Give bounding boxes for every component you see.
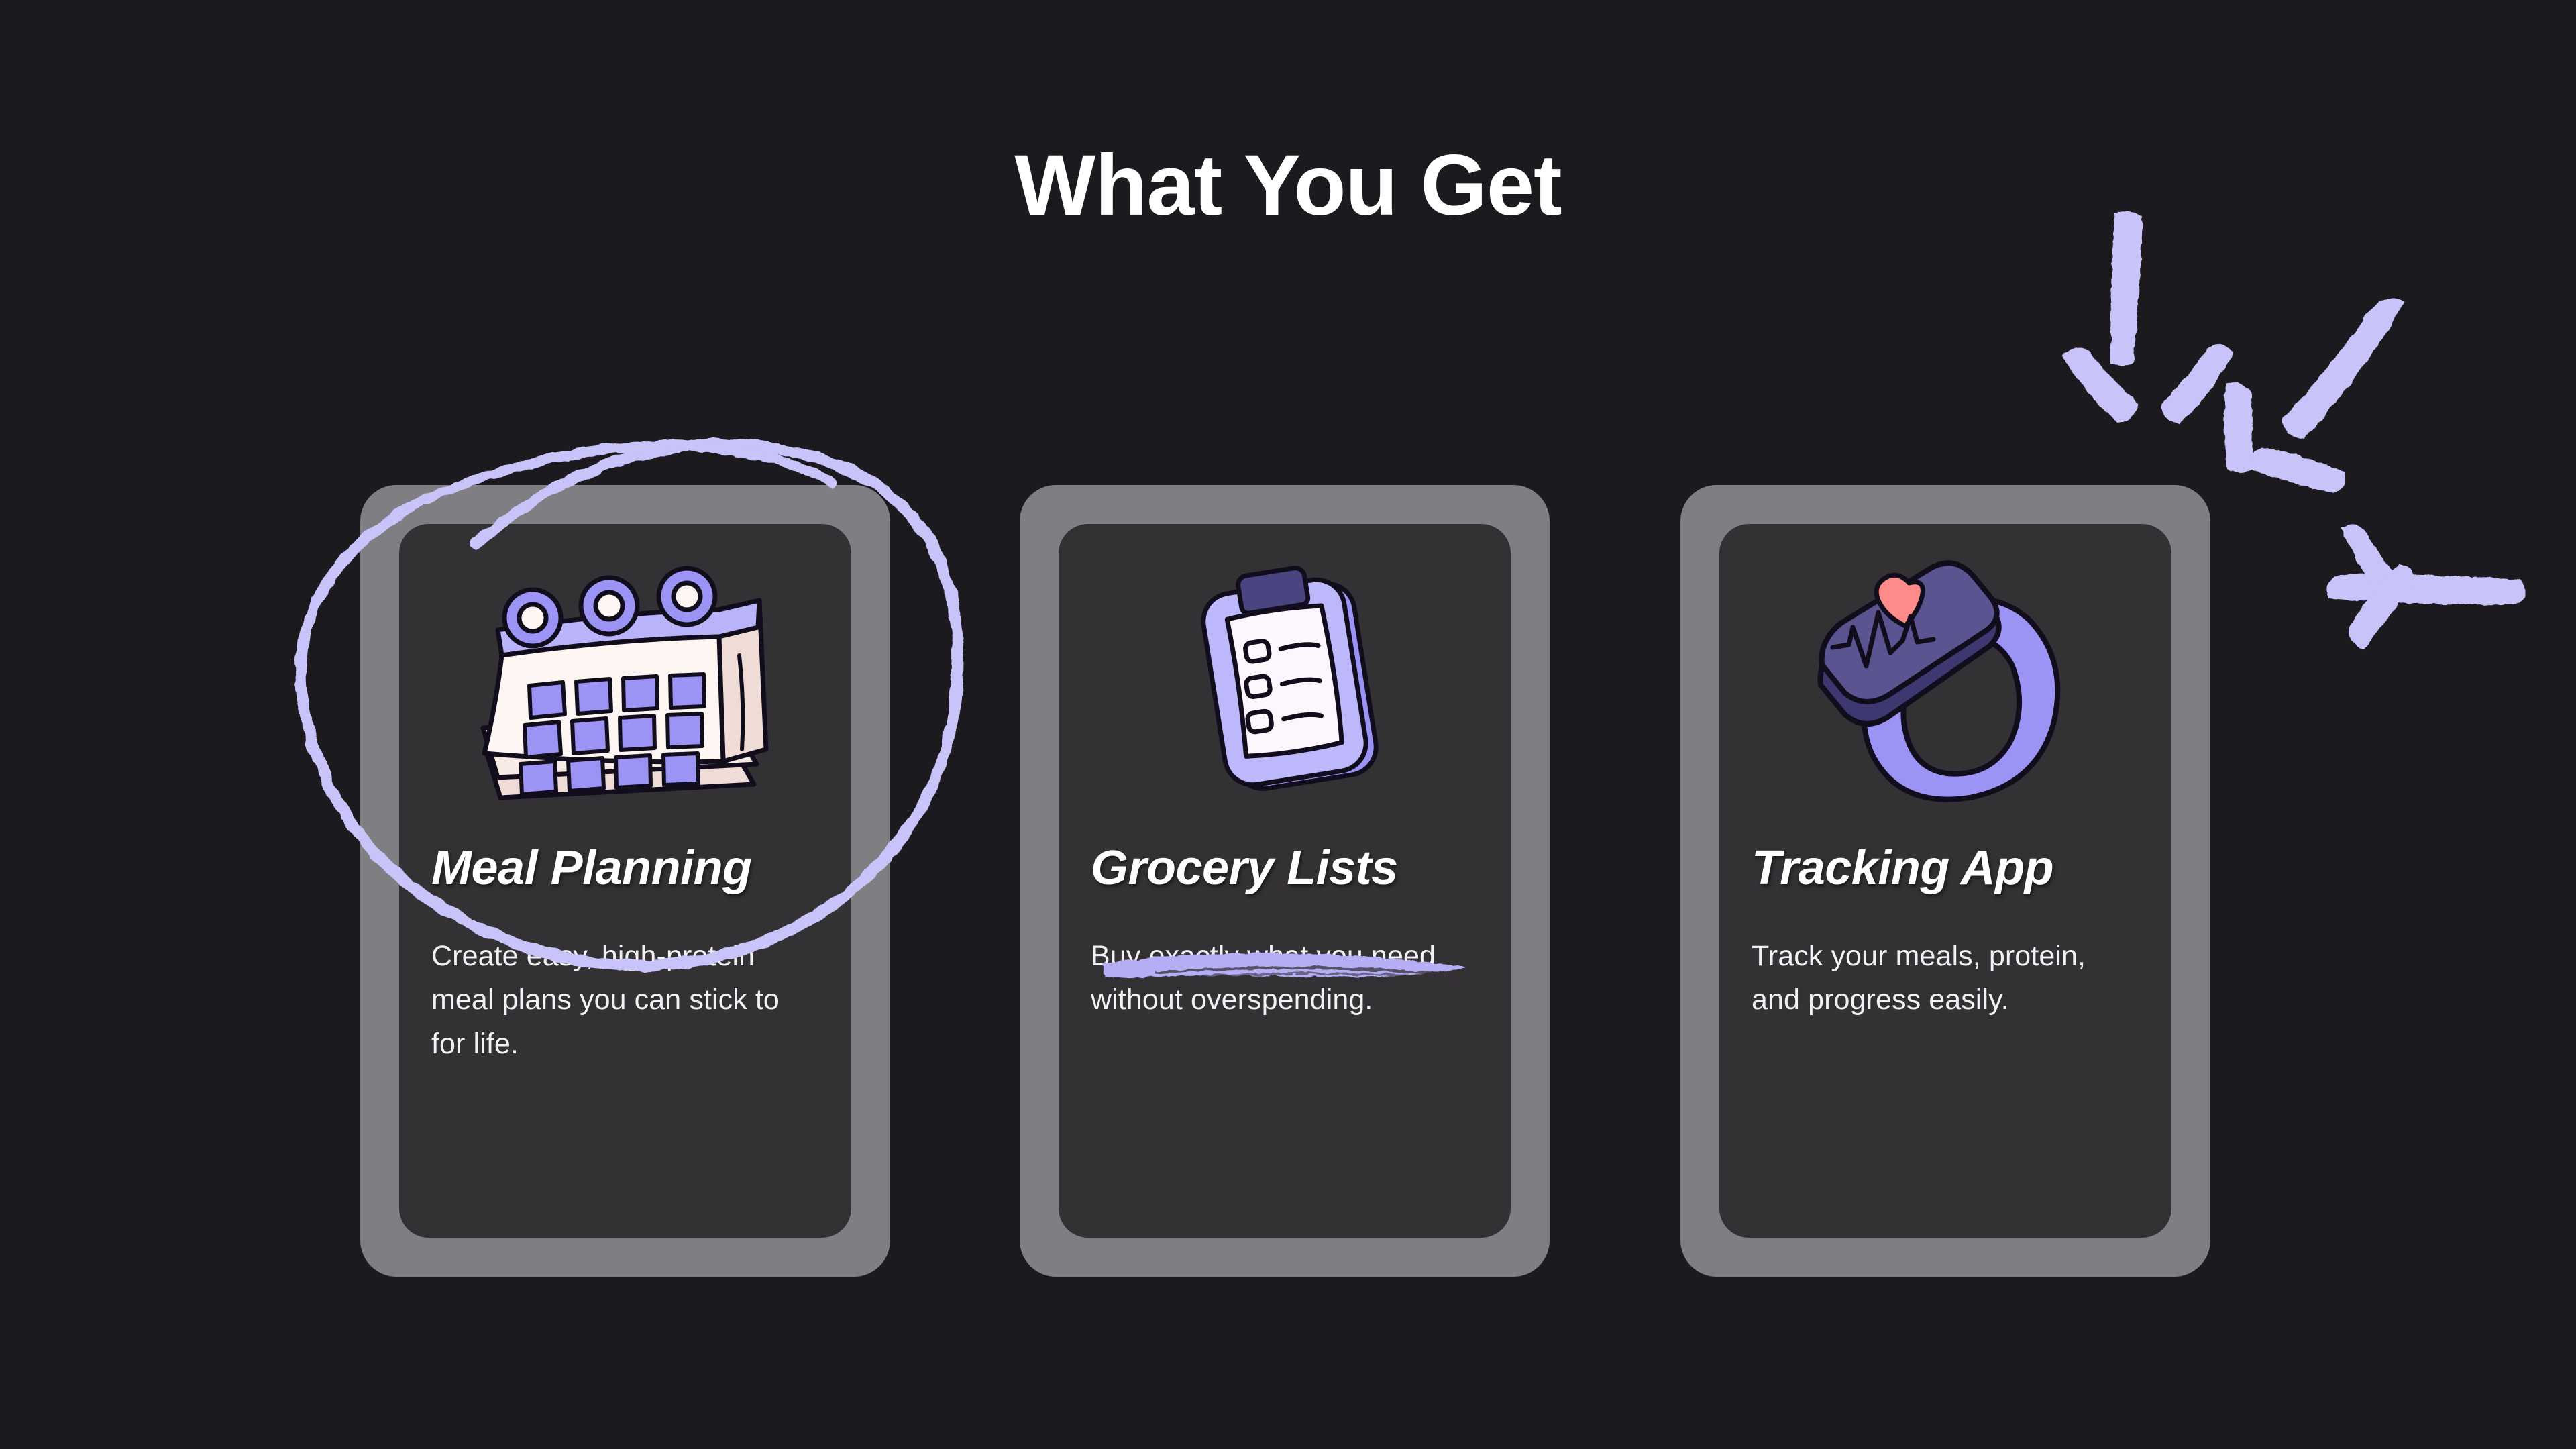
page-title: What You Get [0, 141, 2576, 231]
card-description: Buy exactly what you need without oversp… [1091, 934, 1480, 1022]
calendar-icon [399, 541, 851, 823]
card-inner-surface: Tracking App Track your meals, protein, … [1719, 524, 2171, 1238]
card-description: Create easy, high-protein meal plans you… [431, 934, 820, 1066]
card-description: Track your meals, protein, and progress … [1752, 934, 2141, 1022]
feature-card-row: Meal Planning Create easy, high-protein … [360, 485, 2216, 1277]
feature-card-meal-planning[interactable]: Meal Planning Create easy, high-protein … [360, 485, 890, 1277]
smartwatch-heart-icon [1719, 541, 2171, 823]
feature-card-tracking-app[interactable]: Tracking App Track your meals, protein, … [1680, 485, 2210, 1277]
arrow-down-icon [2062, 211, 2234, 424]
card-title: Tracking App [1752, 843, 2150, 894]
slide-canvas: What You Get [0, 0, 2576, 1449]
card-inner-surface: Meal Planning Create easy, high-protein … [399, 524, 851, 1238]
card-title: Grocery Lists [1091, 843, 1489, 894]
card-inner-surface: Grocery Lists Buy exactly what you need … [1059, 524, 1511, 1238]
clipboard-checklist-icon [1059, 541, 1511, 823]
card-title: Meal Planning [431, 843, 830, 894]
arrow-down-left-icon [2224, 299, 2404, 494]
arrow-left-icon [2327, 525, 2525, 649]
feature-card-grocery-lists[interactable]: Grocery Lists Buy exactly what you need … [1020, 485, 1550, 1277]
